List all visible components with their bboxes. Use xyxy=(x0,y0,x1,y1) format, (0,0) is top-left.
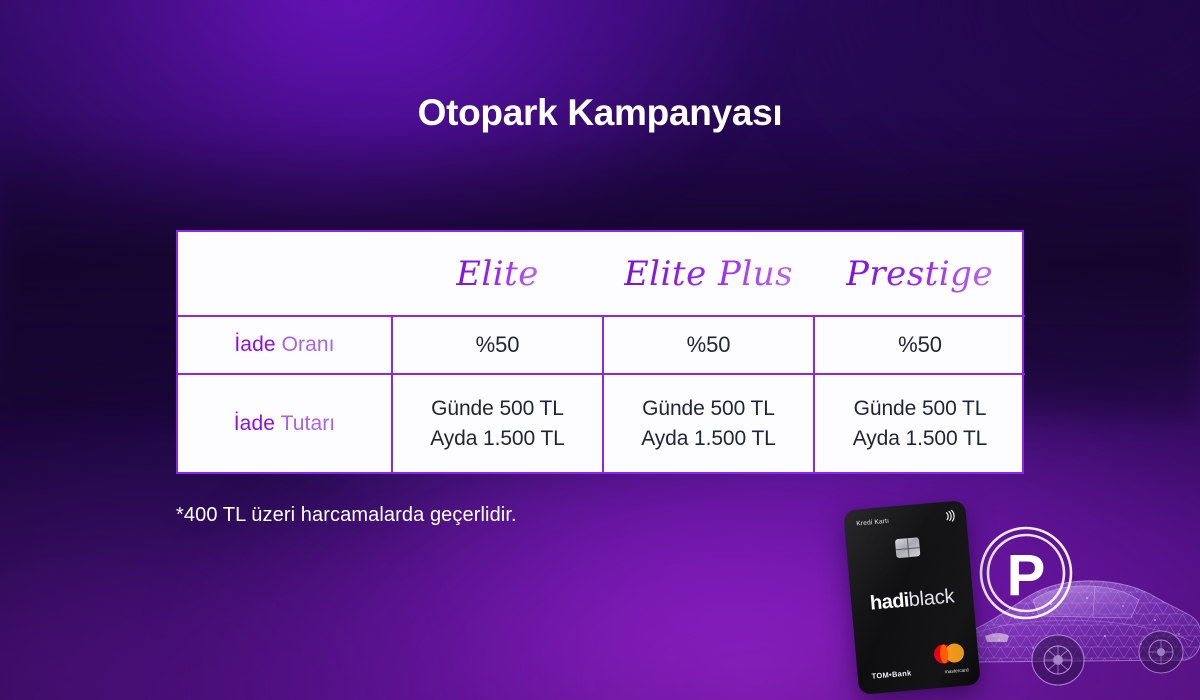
row-label-iade-orani: İade Oranı xyxy=(178,316,392,374)
table-header-row: Elite Elite Plus Prestige xyxy=(178,232,1025,316)
card-brand-secondary: black xyxy=(908,585,955,611)
parking-p-icon: P xyxy=(978,525,1074,621)
footnote-text: *400 TL üzeri harcamalarda geçerlidir. xyxy=(176,504,517,527)
cell-rate-elite: %50 xyxy=(392,316,603,374)
cell-amount-prestige: Günde 500 TL Ayda 1.500 TL xyxy=(814,374,1025,472)
table-row: İade Oranı %50 %50 %50 xyxy=(178,316,1025,374)
cell-rate-prestige: %50 xyxy=(814,316,1025,374)
tier-name-elite: Elite xyxy=(456,254,539,294)
cell-amount-elite-plus: Günde 500 TL Ayda 1.500 TL xyxy=(603,374,814,472)
cell-rate-elite-plus: %50 xyxy=(603,316,814,374)
row-label-iade-tutari: İade Tutarı xyxy=(178,374,392,472)
row-label-strong: İade xyxy=(234,412,275,435)
row-label-soft: Tutarı xyxy=(281,412,336,435)
tier-name-elite-plus: Elite Plus xyxy=(624,254,793,294)
table-row: İade Tutarı Günde 500 TL Ayda 1.500 TL G… xyxy=(178,374,1025,472)
tier-name-prestige: Prestige xyxy=(846,254,993,294)
cell-amount-elite: Günde 500 TL Ayda 1.500 TL xyxy=(392,374,603,472)
emv-chip-icon xyxy=(895,537,921,558)
credit-card-visual: Kredi Kartı hadiblack mastercard TOM•Ban… xyxy=(843,500,981,695)
benefits-table: Elite Elite Plus Prestige İade Oranı xyxy=(176,230,1024,474)
row-label-strong: İade xyxy=(234,333,275,356)
table-header-elite: Elite xyxy=(392,232,603,316)
table-header-elite-plus: Elite Plus xyxy=(603,232,814,316)
mastercard-logo-icon xyxy=(933,643,965,665)
table-header-corner xyxy=(178,232,392,316)
contactless-icon xyxy=(942,509,956,523)
row-label-soft: Oranı xyxy=(282,333,335,356)
page-title: Otopark Kampanyası xyxy=(0,92,1200,134)
promo-banner: Otopark Kampanyası Elite Elite Plus Pres… xyxy=(0,0,1200,700)
card-brand-primary: hadi xyxy=(869,589,909,614)
svg-text:P: P xyxy=(1007,543,1046,608)
table-header-prestige: Prestige xyxy=(814,232,1025,316)
